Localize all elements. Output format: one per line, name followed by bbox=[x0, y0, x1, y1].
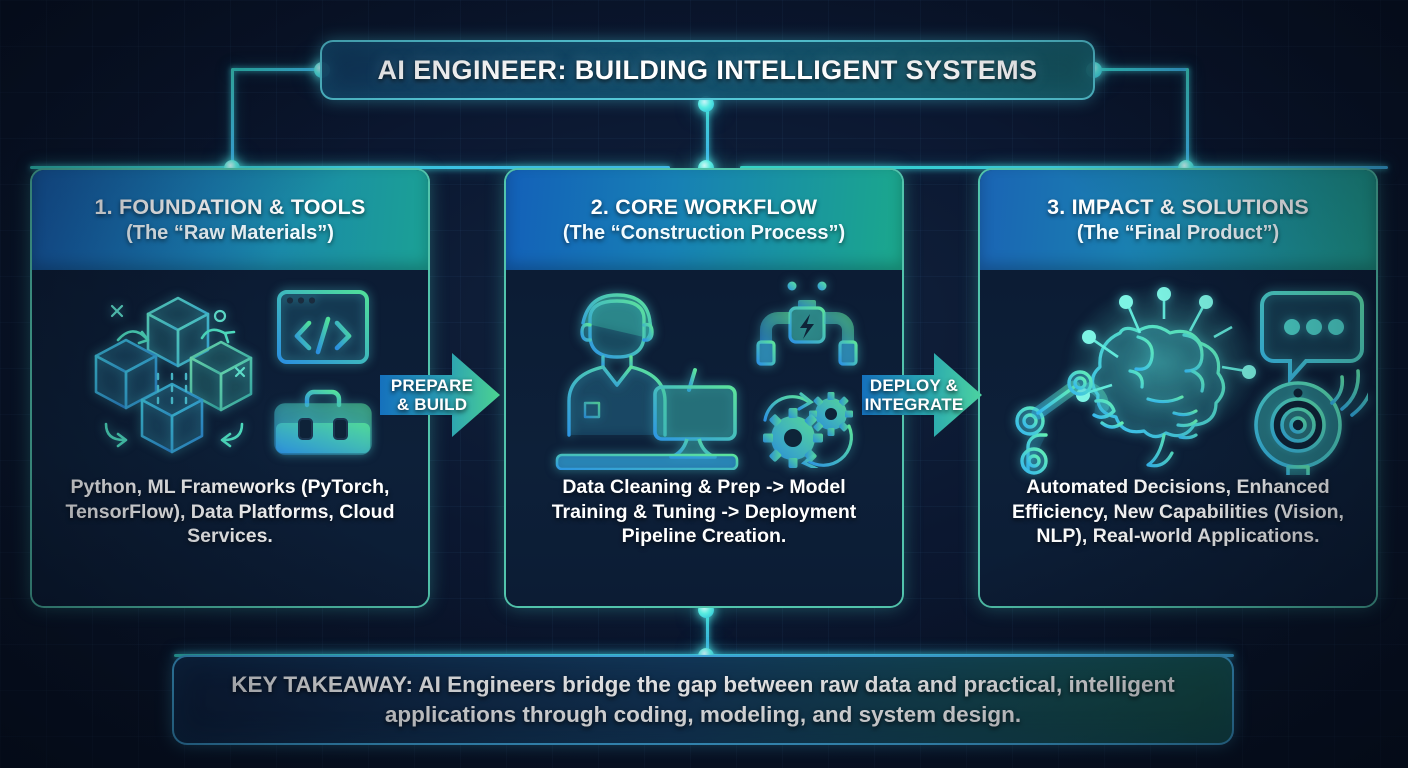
icon-group bbox=[506, 270, 902, 475]
stage-card-impact-solutions[interactable]: 3. IMPACT & SOLUTIONS (The “Final Produc… bbox=[978, 168, 1378, 608]
flow-arrow-prepare-build: PREPARE & BUILD bbox=[380, 345, 500, 445]
arrow-label-line1: PREPARE bbox=[391, 376, 473, 395]
arrow-label-line2: INTEGRATE bbox=[865, 395, 964, 414]
infographic-canvas: AI ENGINEER: BUILDING INTELLIGENT SYSTEM… bbox=[0, 0, 1408, 768]
card-heading: 2. CORE WORKFLOW bbox=[591, 195, 818, 220]
brain-network-icon bbox=[988, 275, 1368, 475]
chat-bubble-icon bbox=[1262, 293, 1362, 379]
code-window-icon bbox=[275, 287, 371, 367]
card-body: Automated Decisions, Enhanced Efficiency… bbox=[980, 270, 1376, 608]
key-takeaway-text: KEY TAKEAWAY: AI Engineers bridge the ga… bbox=[174, 670, 1232, 729]
pipeline-valve-icon bbox=[754, 278, 860, 370]
card-body: Data Cleaning & Prep -> Model Training &… bbox=[506, 270, 902, 608]
card-heading: 3. IMPACT & SOLUTIONS bbox=[1047, 195, 1309, 220]
engineer-at-desk-icon bbox=[547, 275, 747, 470]
flow-arrow-deploy-integrate: DEPLOY & INTEGRATE bbox=[862, 345, 982, 445]
arrow-label: DEPLOY & INTEGRATE bbox=[862, 345, 982, 445]
card-header: 1. FOUNDATION & TOOLS (The “Raw Material… bbox=[32, 170, 428, 270]
card-subheading: (The “Raw Materials”) bbox=[126, 222, 334, 245]
key-takeaway-banner: KEY TAKEAWAY: AI Engineers bridge the ga… bbox=[172, 655, 1234, 745]
arrow-label: PREPARE & BUILD bbox=[380, 345, 500, 445]
stage-card-foundation-tools[interactable]: 1. FOUNDATION & TOOLS (The “Raw Material… bbox=[30, 168, 430, 608]
toolbox-icon bbox=[271, 383, 375, 459]
icon-group bbox=[32, 270, 428, 475]
arrow-label-line1: DEPLOY & bbox=[870, 376, 958, 395]
page-title: AI ENGINEER: BUILDING INTELLIGENT SYSTEM… bbox=[378, 55, 1038, 86]
isometric-cubes-icon bbox=[86, 278, 261, 468]
card-body-text: Automated Decisions, Enhanced Efficiency… bbox=[980, 475, 1376, 608]
card-body-text: Data Cleaning & Prep -> Model Training &… bbox=[506, 475, 902, 608]
card-header: 2. CORE WORKFLOW (The “Construction Proc… bbox=[506, 170, 902, 270]
smart-camera-icon bbox=[1256, 365, 1368, 475]
card-subheading: (The “Final Product”) bbox=[1077, 222, 1279, 245]
main-title-banner: AI ENGINEER: BUILDING INTELLIGENT SYSTEM… bbox=[320, 40, 1095, 100]
card-body-text: Python, ML Frameworks (PyTorch, TensorFl… bbox=[32, 475, 428, 608]
card-header: 3. IMPACT & SOLUTIONS (The “Final Produc… bbox=[980, 170, 1376, 270]
stage-card-core-workflow[interactable]: 2. CORE WORKFLOW (The “Construction Proc… bbox=[504, 168, 904, 608]
gears-cycle-icon bbox=[753, 376, 861, 468]
card-heading: 1. FOUNDATION & TOOLS bbox=[95, 195, 366, 220]
code-lines-icon bbox=[670, 310, 735, 355]
card-body: Python, ML Frameworks (PyTorch, TensorFl… bbox=[32, 270, 428, 608]
icon-group bbox=[980, 270, 1376, 475]
arrow-label-line2: & BUILD bbox=[397, 395, 467, 414]
card-subheading: (The “Construction Process”) bbox=[563, 222, 845, 245]
